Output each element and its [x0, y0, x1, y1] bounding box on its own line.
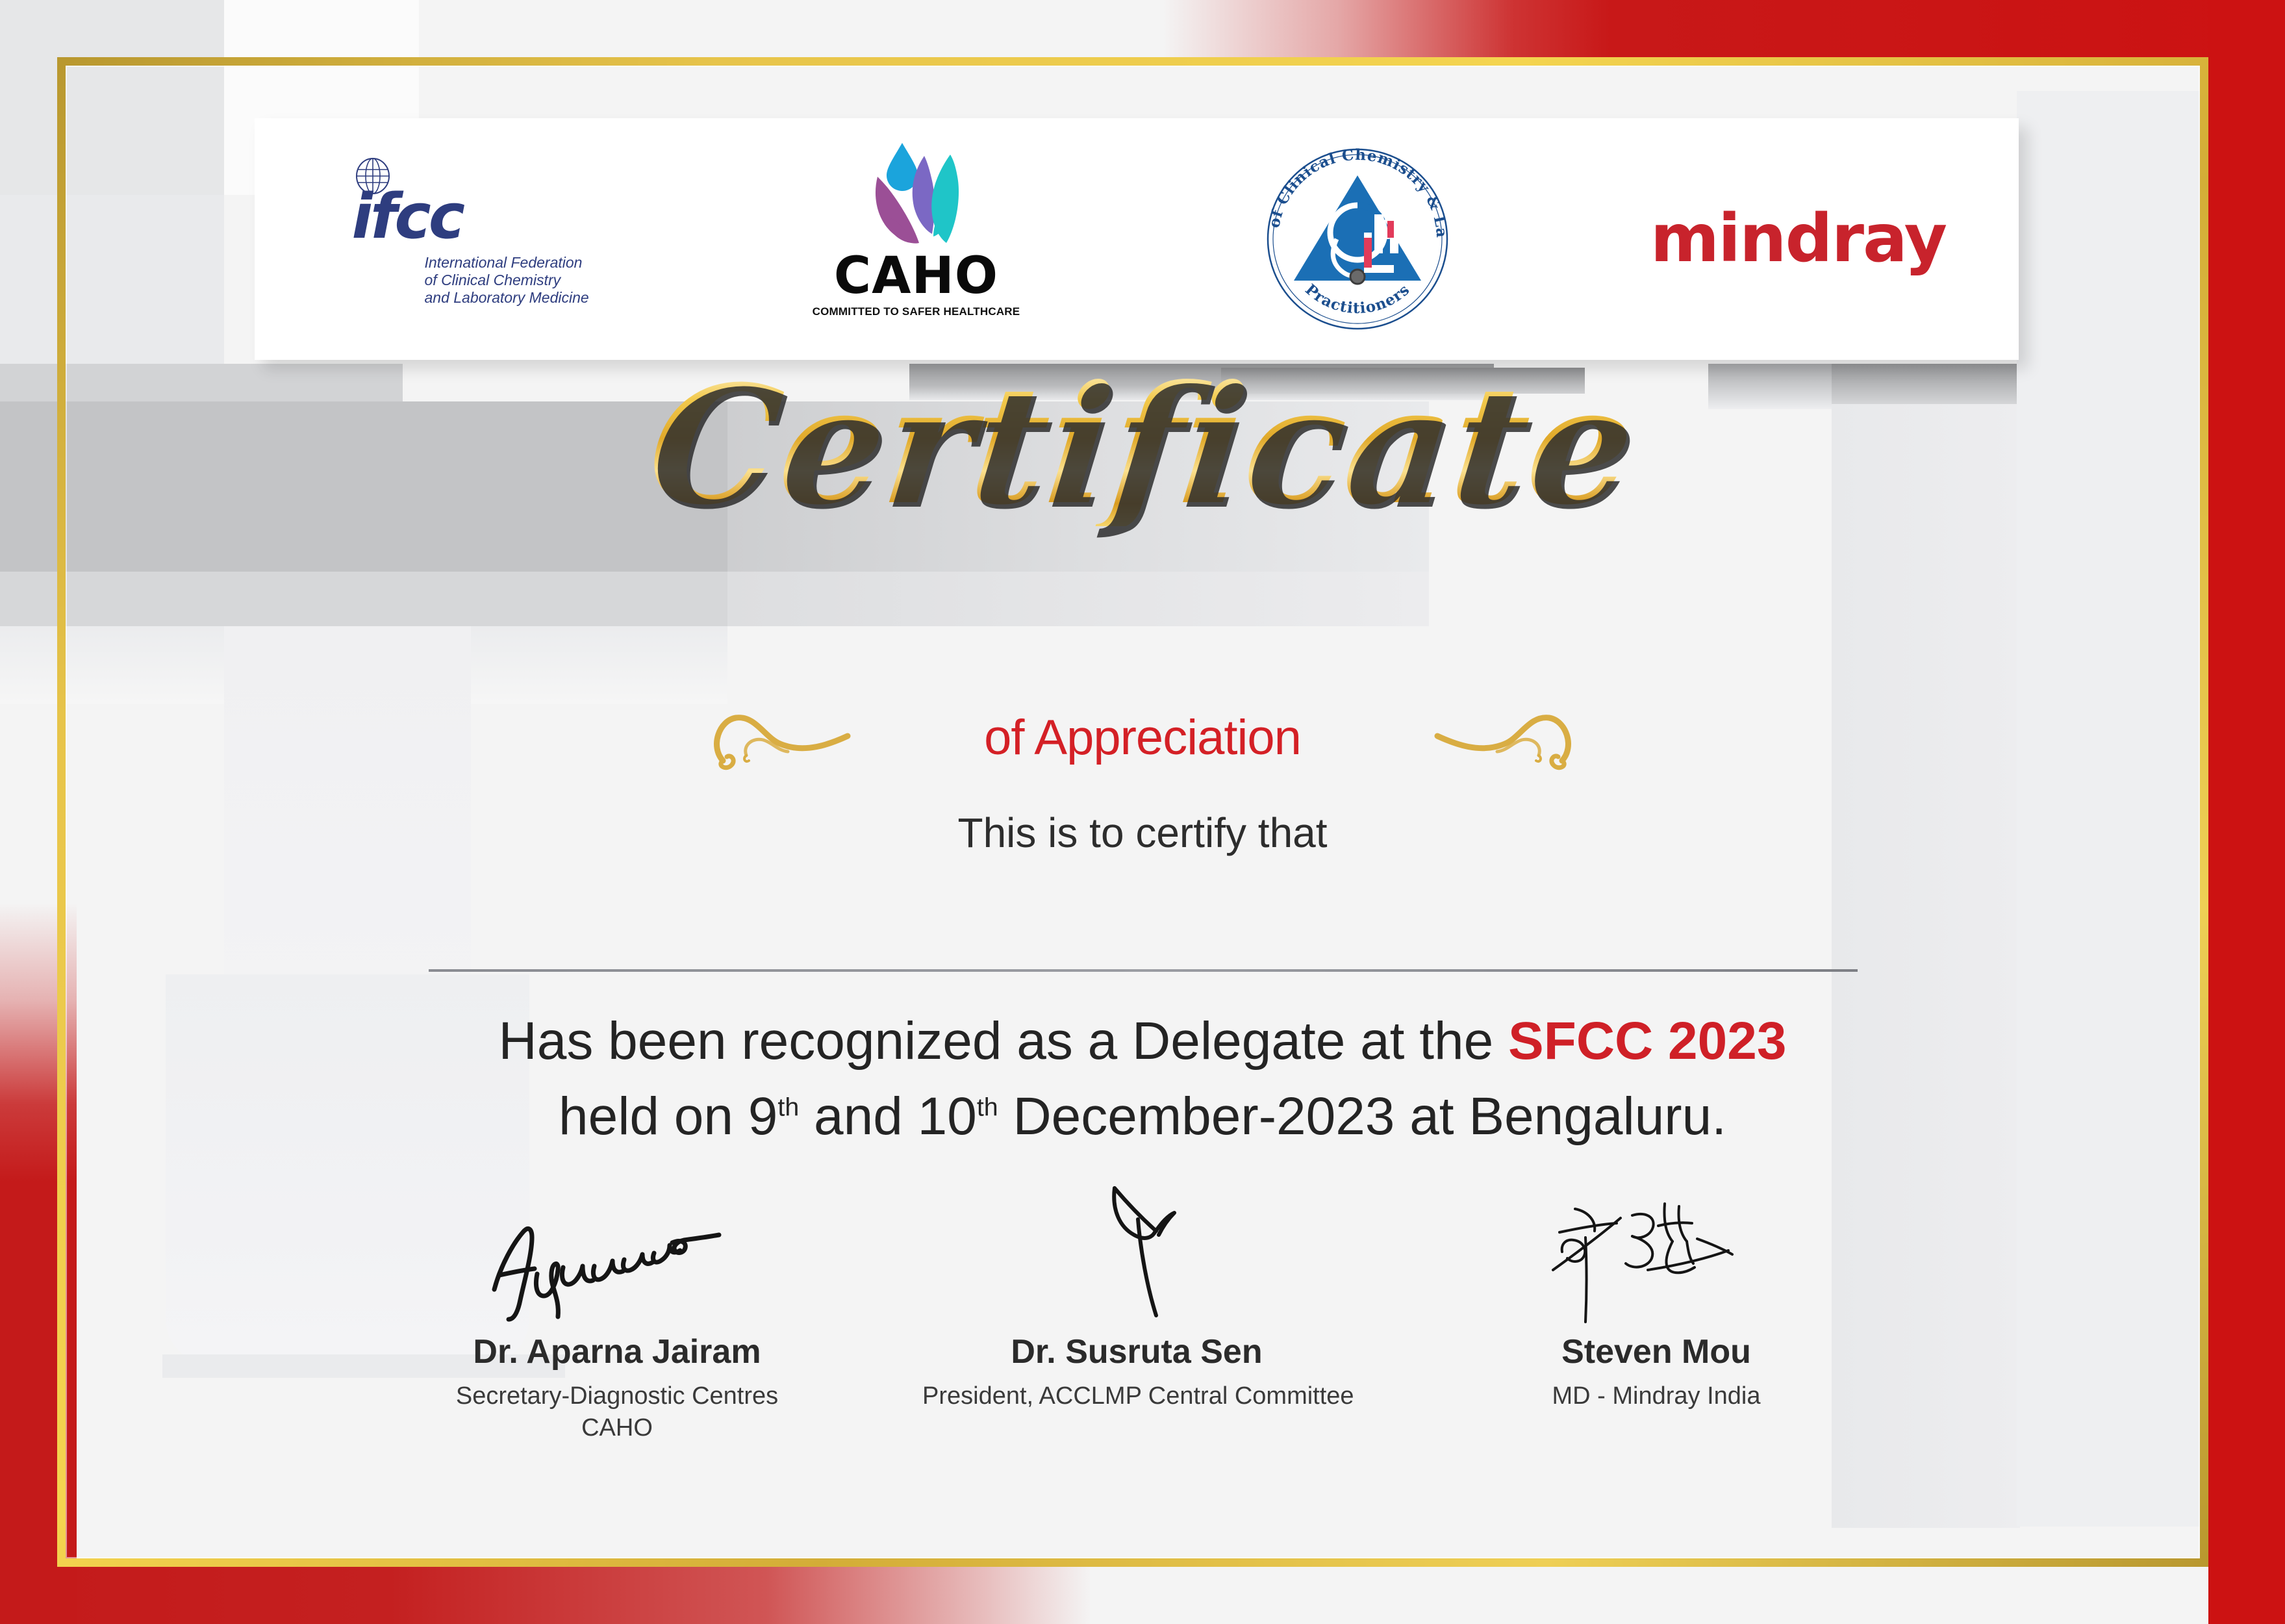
ordinal-suffix-2: th — [977, 1093, 998, 1122]
signature-susruta-icon — [1052, 1179, 1221, 1328]
signature-name: Steven Mou — [1442, 1332, 1871, 1371]
certify-line: This is to certify that — [0, 809, 2285, 857]
logo-caho: CAHO COMMITTED TO SAFER HEALTHCARE — [696, 118, 1137, 360]
signature-role: President, ACCLMP Central Committee — [922, 1380, 1351, 1412]
subtitle-row: of Appreciation — [0, 698, 2285, 776]
ifcc-tagline-line: of Clinical Chemistry — [425, 272, 589, 289]
acclmp-seal-icon: Association of Clinical Chemistry & Lab … — [1260, 142, 1455, 336]
body-line-1: Has been recognized as a Delegate at the… — [0, 1004, 2285, 1079]
signature-row: Dr. Aparna Jairam Secretary-Diagnostic C… — [403, 1199, 1871, 1445]
signature-block: Dr. Aparna Jairam Secretary-Diagnostic C… — [403, 1199, 831, 1445]
signature-block: Steven Mou MD - Mindray India — [1442, 1199, 1871, 1445]
caho-leaf-drop-icon — [852, 142, 981, 255]
ifcc-tagline-line: International Federation — [425, 254, 589, 272]
signature-role-line: Secretary-Diagnostic Centres — [403, 1380, 831, 1412]
signature-role-line: CAHO — [403, 1412, 831, 1444]
signature-name: Dr. Aparna Jairam — [403, 1332, 831, 1371]
body-line-2-c: December-2023 at Bengaluru. — [998, 1087, 1726, 1146]
divider-rule — [429, 969, 1858, 972]
certificate-body: Has been recognized as a Delegate at the… — [0, 1004, 2285, 1155]
signature-ink — [1442, 1199, 1871, 1328]
signature-role-line: President, ACCLMP Central Committee — [922, 1380, 1351, 1412]
ifcc-tagline-line: and Laboratory Medicine — [425, 289, 589, 307]
event-name-highlight: SFCC 2023 — [1508, 1011, 1786, 1071]
signature-role: Secretary-Diagnostic Centres CAHO — [403, 1380, 831, 1445]
signature-name: Dr. Susruta Sen — [922, 1332, 1351, 1371]
body-line-2-a: held on 9 — [559, 1087, 777, 1146]
signature-block: Dr. Susruta Sen President, ACCLMP Centra… — [922, 1199, 1351, 1445]
ifcc-tagline: International Federation of Clinical Che… — [425, 254, 589, 307]
body-line-1-prefix: Has been recognized as a Delegate at the — [499, 1011, 1508, 1071]
certificate-title-script: Certificate — [642, 364, 1643, 526]
ifcc-wordmark: ifcc — [352, 186, 463, 248]
signature-aparna-icon — [477, 1205, 757, 1328]
caho-tagline: COMMITTED TO SAFER HEALTHCARE — [809, 305, 1024, 318]
signature-steven-mou-icon — [1549, 1199, 1763, 1328]
logo-ifcc: ifcc International Federation of Clinica… — [255, 118, 696, 360]
signature-role-line: MD - Mindray India — [1442, 1380, 1871, 1412]
flourish-left-icon — [707, 698, 967, 776]
signature-ink — [922, 1199, 1351, 1328]
mindray-wordmark: mindray — [1650, 206, 1946, 272]
logo-acclmp: Association of Clinical Chemistry & Lab … — [1137, 118, 1578, 360]
ordinal-suffix-1: th — [777, 1093, 799, 1122]
body-line-2: held on 9th and 10th December-2023 at Be… — [0, 1079, 2285, 1154]
signature-ink — [403, 1199, 831, 1328]
certificate-title: Certificate — [0, 364, 2285, 526]
body-line-2-b: and 10 — [799, 1087, 977, 1146]
logo-mindray: mindray — [1578, 118, 2019, 360]
svg-text:Practitioners: Practitioners — [1302, 281, 1413, 317]
flourish-right-icon — [1318, 698, 1578, 776]
border-band-top — [0, 0, 2285, 57]
sponsor-logo-band: ifcc International Federation of Clinica… — [255, 118, 2019, 360]
signature-role: MD - Mindray India — [1442, 1380, 1871, 1412]
subtitle-text: of Appreciation — [984, 709, 1301, 766]
caho-wordmark: CAHO — [809, 252, 1024, 300]
border-band-bottom — [0, 1567, 2285, 1624]
